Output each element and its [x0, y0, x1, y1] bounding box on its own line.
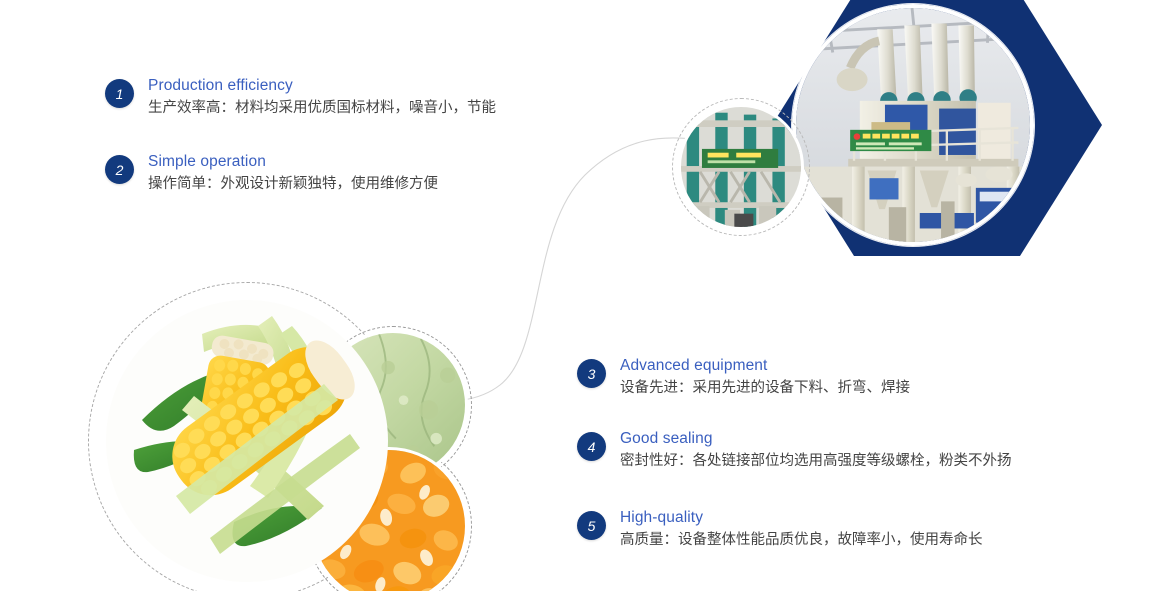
feature-body: 高质量：设备整体性能品质优良，故障率小，使用寿命长 [620, 529, 983, 551]
feature-number-badge: 5 [577, 511, 606, 540]
hexagon-small-photo [678, 104, 804, 230]
feature-body: 设备先进：采用先进的设备下料、折弯、焊接 [620, 377, 910, 399]
feature-item-2[interactable]: 2 Simple operation 操作简单：外观设计新颖独特，使用维修方便 [105, 152, 438, 195]
feature-body: 密封性好：各处链接部位均选用高强度等级螺栓，粉类不外扬 [620, 450, 1012, 472]
feature-text: High-quality 高质量：设备整体性能品质优良，故障率小，使用寿命长 [620, 508, 983, 551]
feature-item-3[interactable]: 3 Advanced equipment 设备先进：采用先进的设备下料、折弯、焊… [577, 356, 910, 399]
corn-main-photo [106, 300, 388, 582]
feature-item-4[interactable]: 4 Good sealing 密封性好：各处链接部位均选用高强度等级螺栓，粉类不… [577, 429, 1012, 472]
feature-text: Production efficiency 生产效率高：材料均采用优质国标材料，… [148, 76, 496, 119]
hexagon-main-photo [792, 4, 1034, 246]
feature-heading: Simple operation [148, 152, 438, 172]
feature-item-5[interactable]: 5 High-quality 高质量：设备整体性能品质优良，故障率小，使用寿命长 [577, 508, 983, 551]
feature-number-badge: 4 [577, 432, 606, 461]
infographic-canvas: 1 Production efficiency 生产效率高：材料均采用优质国标材… [0, 0, 1154, 591]
feature-heading: Advanced equipment [620, 356, 910, 376]
feature-text: Simple operation 操作简单：外观设计新颖独特，使用维修方便 [148, 152, 438, 195]
feature-text: Good sealing 密封性好：各处链接部位均选用高强度等级螺栓，粉类不外扬 [620, 429, 1012, 472]
corn-media-group [88, 282, 478, 591]
feature-heading: Good sealing [620, 429, 1012, 449]
feature-heading: Production efficiency [148, 76, 496, 96]
feature-body: 操作简单：外观设计新颖独特，使用维修方便 [148, 173, 438, 195]
hexagon-media-group [672, 0, 1112, 266]
feature-number-badge: 1 [105, 79, 134, 108]
feature-text: Advanced equipment 设备先进：采用先进的设备下料、折弯、焊接 [620, 356, 910, 399]
feature-number-badge: 2 [105, 155, 134, 184]
feature-heading: High-quality [620, 508, 983, 528]
feature-item-1[interactable]: 1 Production efficiency 生产效率高：材料均采用优质国标材… [105, 76, 496, 119]
feature-number-badge: 3 [577, 359, 606, 388]
feature-body: 生产效率高：材料均采用优质国标材料，噪音小，节能 [148, 97, 496, 119]
